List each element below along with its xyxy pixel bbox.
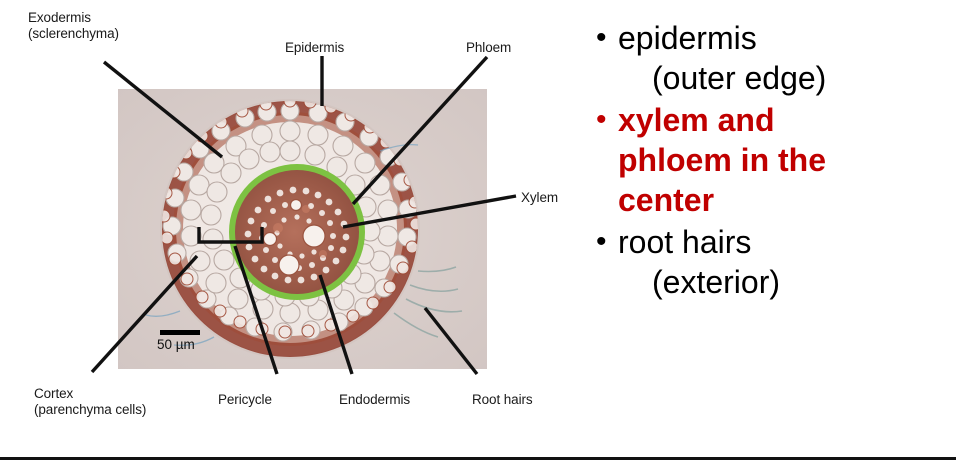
figure-label-exodermis: Exodermis (sclerenchyma) bbox=[28, 10, 119, 42]
bullet-list: • epidermis (outer edge) • xylem and phl… bbox=[596, 18, 952, 304]
bullet-dot-icon: • bbox=[596, 18, 618, 58]
figure-label-endodermis: Endodermis bbox=[339, 392, 410, 408]
figure-label-phloem: Phloem bbox=[466, 40, 511, 56]
figure-label-xylem-line1: Xylem bbox=[521, 190, 558, 206]
figure-label-root-hairs: Root hairs bbox=[472, 392, 533, 408]
figure-label-cortex-line2: (parenchyma cells) bbox=[34, 402, 146, 418]
figure-label-epidermis: Epidermis bbox=[285, 40, 344, 56]
figure-label-exodermis-line2: (sclerenchyma) bbox=[28, 26, 119, 42]
list-item-epidermis-line1: epidermis bbox=[618, 20, 757, 56]
list-item-root-hairs-line2: (exterior) bbox=[618, 262, 952, 302]
figure-label-root-hairs-line1: Root hairs bbox=[472, 392, 533, 408]
list-item-epidermis: • epidermis (outer edge) bbox=[596, 18, 952, 98]
root-cross-section-figure: Exodermis (sclerenchyma) Epidermis Phloe… bbox=[0, 0, 590, 464]
slide-canvas: Exodermis (sclerenchyma) Epidermis Phloe… bbox=[0, 0, 956, 464]
list-item-xylem-phloem-line3: center bbox=[618, 180, 952, 220]
bullet-dot-icon: • bbox=[596, 100, 618, 140]
figure-label-cortex: Cortex (parenchyma cells) bbox=[34, 386, 146, 418]
figure-label-endodermis-line1: Endodermis bbox=[339, 392, 410, 408]
list-item-xylem-phloem-line2: phloem in the bbox=[618, 140, 952, 180]
list-item-root-hairs-line1: root hairs bbox=[618, 224, 751, 260]
scale-bar: 50 µm bbox=[157, 330, 200, 352]
list-item-epidermis-text: epidermis (outer edge) bbox=[618, 18, 952, 98]
scale-bar-rule bbox=[160, 330, 200, 335]
figure-label-phloem-line1: Phloem bbox=[466, 40, 511, 56]
scale-bar-label: 50 µm bbox=[157, 337, 200, 352]
figure-label-xylem: Xylem bbox=[521, 190, 558, 206]
micrograph-image bbox=[118, 89, 487, 369]
bottom-divider bbox=[0, 457, 956, 460]
list-item-root-hairs: • root hairs (exterior) bbox=[596, 222, 952, 302]
figure-label-pericycle: Pericycle bbox=[218, 392, 272, 408]
list-item-xylem-phloem: • xylem and phloem in the center bbox=[596, 100, 952, 220]
figure-label-epidermis-line1: Epidermis bbox=[285, 40, 344, 56]
figure-label-exodermis-line1: Exodermis bbox=[28, 10, 119, 26]
list-item-root-hairs-text: root hairs (exterior) bbox=[618, 222, 952, 302]
bullet-dot-icon: • bbox=[596, 222, 618, 262]
figure-label-pericycle-line1: Pericycle bbox=[218, 392, 272, 408]
figure-label-cortex-line1: Cortex bbox=[34, 386, 146, 402]
list-item-epidermis-line2: (outer edge) bbox=[618, 58, 952, 98]
list-item-xylem-phloem-line1: xylem and bbox=[618, 102, 775, 138]
list-item-xylem-phloem-text: xylem and phloem in the center bbox=[618, 100, 952, 220]
